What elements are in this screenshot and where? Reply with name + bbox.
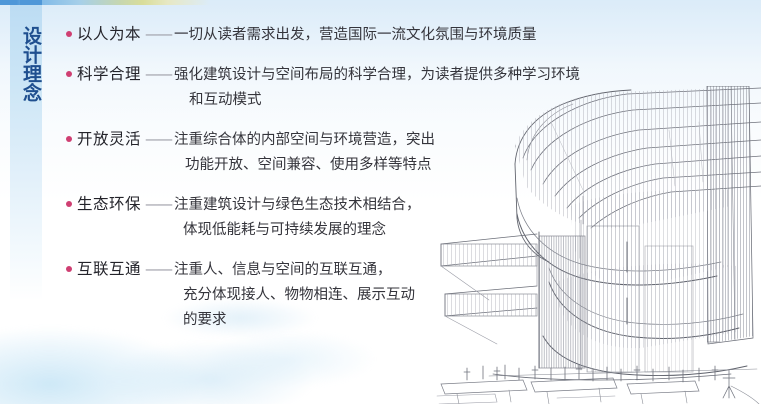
- page-title: 设计理念: [10, 12, 42, 116]
- bullet-dot-icon: [66, 71, 72, 77]
- bullet-dash: ——: [141, 130, 174, 148]
- bullet-dash: ——: [141, 65, 174, 83]
- slide-canvas: 设计理念 以人为本——一切从读者需求出发，营造国际一流文化氛围与环境质量 科学合…: [0, 0, 761, 404]
- bullet-heading: 以人为本: [77, 25, 141, 43]
- bullet-text: 以人为本——一切从读者需求出发，营造国际一流文化氛围与环境质量: [77, 22, 666, 48]
- bullet-heading: 科学合理: [77, 65, 141, 83]
- bullet-dot-icon: [66, 136, 72, 142]
- bullet-dot-icon: [66, 266, 72, 272]
- bullet-dot-icon: [66, 201, 72, 207]
- bullet-description: 一切从读者需求出发，营造国际一流文化氛围与环境质量: [174, 27, 537, 43]
- bullet-description: 注重建筑设计与绿色生态技术相结合，: [174, 197, 421, 213]
- list-item: 以人为本——一切从读者需求出发，营造国际一流文化氛围与环境质量: [66, 22, 666, 48]
- bullet-heading: 生态环保: [77, 195, 141, 213]
- bullet-dash: ——: [141, 195, 174, 213]
- bullet-dash: ——: [141, 25, 174, 43]
- bullet-dot-icon: [66, 31, 72, 37]
- bullet-heading: 互联互通: [77, 260, 141, 278]
- bullet-description: 强化建筑设计与空间布局的科学合理，为读者提供多种学习环境: [174, 67, 580, 83]
- bullet-description: 注重人、信息与空间的互联互通，: [174, 262, 392, 278]
- bullet-description: 注重综合体的内部空间与环境营造，突出: [174, 132, 435, 148]
- bullet-dash: ——: [141, 260, 174, 278]
- bullet-heading: 开放灵活: [77, 130, 141, 148]
- architecture-sketch-illustration: [431, 86, 761, 404]
